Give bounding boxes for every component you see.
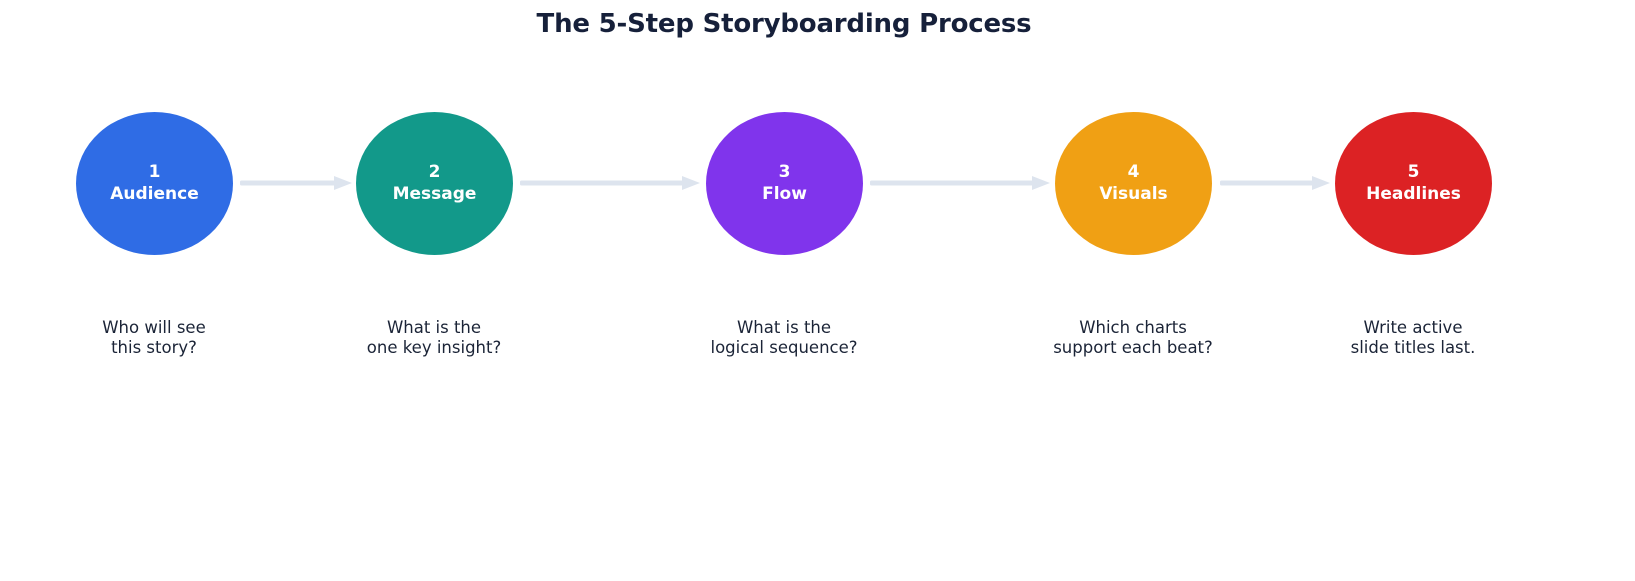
step-circle[interactable]: 3Flow [706, 112, 863, 255]
process-step-3[interactable]: 3Flow [706, 112, 863, 255]
step-caption-3: What is thelogical sequence? [654, 318, 914, 358]
caption-line-1: What is the [654, 318, 914, 338]
step-circle[interactable]: 4Visuals [1055, 112, 1212, 255]
arrow-icon [1220, 176, 1330, 190]
step-number: 4 [1128, 162, 1140, 183]
process-step-2[interactable]: 2Message [356, 112, 513, 255]
step-caption-5: Write activeslide titles last. [1283, 318, 1543, 358]
caption-line-2: one key insight? [304, 338, 564, 358]
caption-line-2: this story? [24, 338, 284, 358]
step-label: Message [393, 183, 477, 205]
arrow-icon [870, 176, 1050, 190]
step-number: 2 [429, 162, 441, 183]
process-step-1[interactable]: 1Audience [76, 112, 233, 255]
step-label: Visuals [1099, 183, 1167, 205]
caption-line-1: Which charts [1003, 318, 1263, 338]
step-label: Audience [110, 183, 199, 205]
step-caption-4: Which chartssupport each beat? [1003, 318, 1263, 358]
step-circle[interactable]: 1Audience [76, 112, 233, 255]
caption-line-1: What is the [304, 318, 564, 338]
arrow-icon [240, 176, 352, 190]
step-number: 5 [1408, 162, 1420, 183]
process-step-4[interactable]: 4Visuals [1055, 112, 1212, 255]
caption-line-2: logical sequence? [654, 338, 914, 358]
step-label: Headlines [1366, 183, 1461, 205]
step-number: 1 [149, 162, 161, 183]
caption-line-1: Write active [1283, 318, 1543, 338]
step-caption-2: What is theone key insight? [304, 318, 564, 358]
page-title: The 5-Step Storyboarding Process [0, 8, 1568, 40]
step-number: 3 [779, 162, 791, 183]
step-label: Flow [762, 183, 807, 205]
diagram-canvas: The 5-Step Storyboarding Process 1Audien… [0, 0, 1635, 581]
step-caption-1: Who will seethis story? [24, 318, 284, 358]
process-step-5[interactable]: 5Headlines [1335, 112, 1492, 255]
arrow-icon [520, 176, 700, 190]
caption-line-2: slide titles last. [1283, 338, 1543, 358]
caption-line-2: support each beat? [1003, 338, 1263, 358]
step-circle[interactable]: 5Headlines [1335, 112, 1492, 255]
caption-line-1: Who will see [24, 318, 284, 338]
step-circle[interactable]: 2Message [356, 112, 513, 255]
